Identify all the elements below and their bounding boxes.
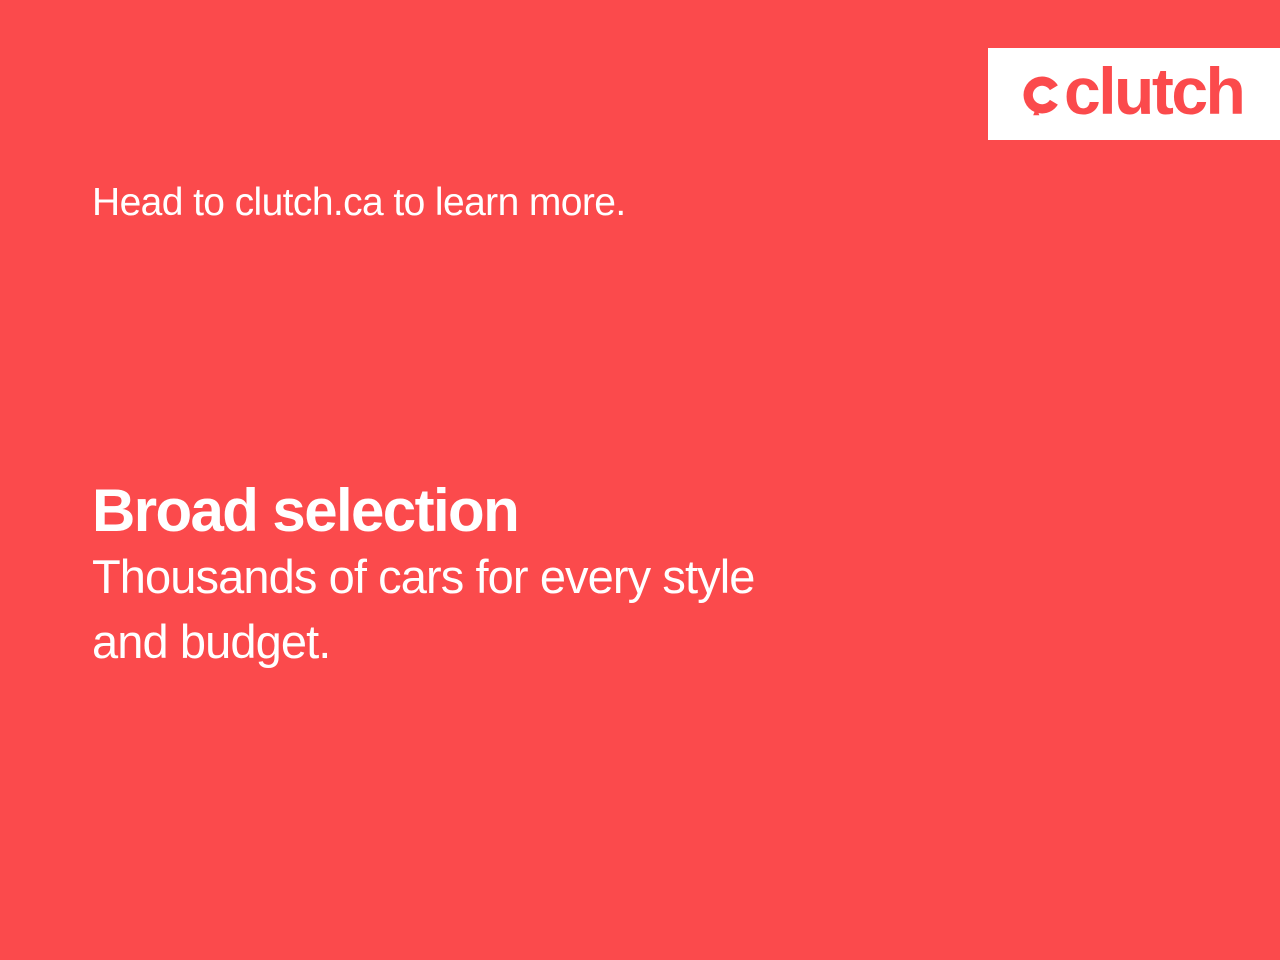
clutch-logo-lockup[interactable]: clutch xyxy=(1020,61,1245,127)
page-title: Broad selection xyxy=(92,478,518,544)
brand-logo-plate: clutch xyxy=(988,48,1280,140)
eyebrow-text: Head to clutch.ca to learn more. xyxy=(92,180,626,227)
subcopy-line-1: Thousands of cars for every style xyxy=(92,545,1052,610)
clutch-wordmark: clutch xyxy=(1064,58,1243,124)
subcopy-block: Thousands of cars for every style and bu… xyxy=(92,545,1052,675)
promo-slide: clutch Head to clutch.ca to learn more. … xyxy=(0,0,1280,960)
clutch-c-mark-icon xyxy=(1020,73,1064,117)
subcopy-line-2: and budget. xyxy=(92,610,1052,675)
